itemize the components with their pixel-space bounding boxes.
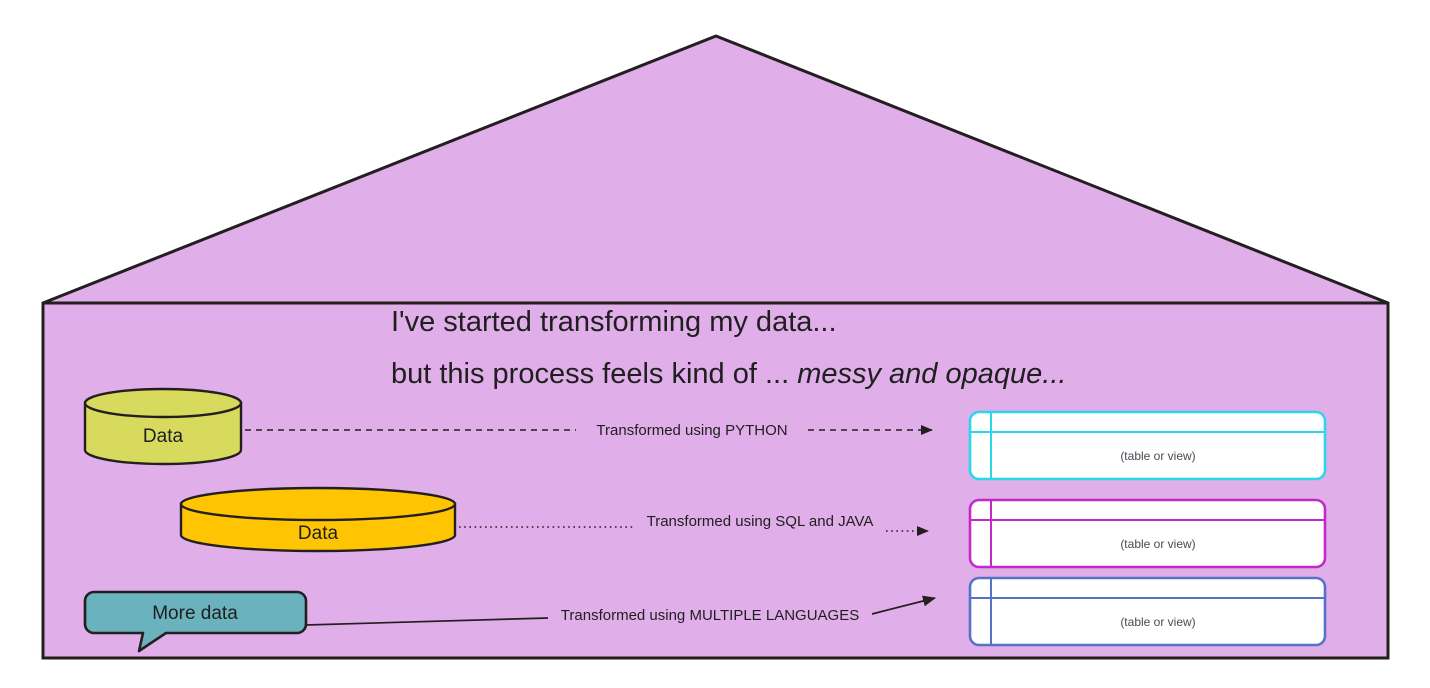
connector-sql-java-label: Transformed using SQL and JAVA — [647, 513, 874, 530]
blue-table-frame — [970, 578, 1325, 645]
target-table-cyan[interactable]: (table or view) — [970, 412, 1325, 479]
source-green-cylinder[interactable]: Data — [85, 389, 241, 464]
cyan-table-frame — [970, 412, 1325, 479]
blue-table-caption: (table or view) — [1120, 615, 1195, 629]
connector-multiple-label: Transformed using MULTIPLE LANGUAGES — [561, 607, 859, 624]
diagram-canvas: I've started transforming my data... but… — [0, 0, 1430, 688]
headline-line-2: but this process feels kind of ... messy… — [391, 358, 1066, 390]
cyan-table-caption: (table or view) — [1120, 449, 1195, 463]
headline-line-2-plain: but this process feels kind of ... — [391, 358, 797, 390]
magenta-table-frame — [970, 500, 1325, 567]
headline-line-1: I've started transforming my data... — [391, 306, 837, 338]
orange-cylinder-top — [181, 488, 455, 520]
diagram-svg: I've started transforming my data... but… — [0, 0, 1430, 688]
target-table-magenta[interactable]: (table or view) — [970, 500, 1325, 567]
green-cylinder-top — [85, 389, 241, 417]
target-table-blue[interactable]: (table or view) — [970, 578, 1325, 645]
connector-python-label: Transformed using PYTHON — [596, 422, 787, 439]
orange-cylinder-label: Data — [298, 523, 339, 544]
magenta-table-caption: (table or view) — [1120, 537, 1195, 551]
teal-bubble-label: More data — [152, 603, 238, 624]
headline-line-2-italic: messy and opaque... — [797, 358, 1066, 390]
source-orange-cylinder[interactable]: Data — [181, 488, 455, 551]
green-cylinder-label: Data — [143, 426, 184, 447]
